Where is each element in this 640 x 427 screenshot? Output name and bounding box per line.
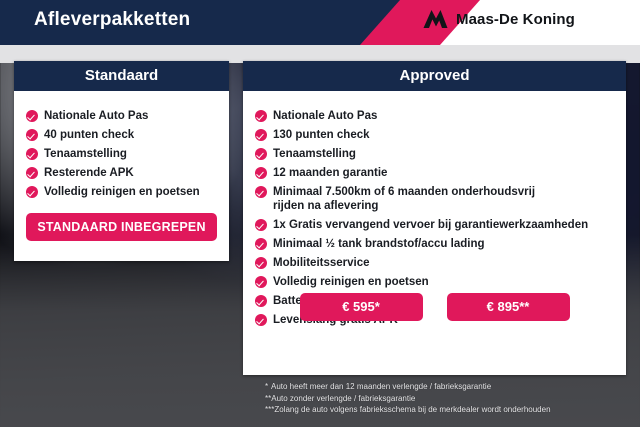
- feature-label: Resterende APK: [44, 166, 134, 180]
- card-standaard: Standaard Nationale Auto Pas 40 punten c…: [14, 61, 229, 261]
- feature-label: 130 punten check: [273, 128, 370, 142]
- list-item: Tenaamstelling: [26, 147, 229, 161]
- footnote-row: * Auto heeft meer dan 12 maanden verleng…: [243, 381, 626, 393]
- footnote-text: Auto zonder verlengde / fabrieksgarantie: [271, 393, 626, 405]
- feature-label-line1: Minimaal 7.500km of 6 maanden onderhouds…: [273, 186, 535, 198]
- check-circle-icon: [26, 148, 38, 160]
- brand-name: Maas-De Koning: [456, 11, 575, 28]
- footnote-row: ** Auto zonder verlengde / fabrieksgaran…: [243, 393, 626, 405]
- feature-label: Volledig reinigen en poetsen: [273, 275, 429, 289]
- list-item: Minimaal ½ tank brandstof/accu lading: [255, 237, 626, 251]
- check-circle-icon: [26, 129, 38, 141]
- check-circle-icon: [255, 186, 267, 198]
- feature-label: Mobiliteitsservice: [273, 256, 370, 270]
- feature-label: Tenaamstelling: [273, 147, 356, 161]
- list-item: Nationale Auto Pas: [255, 109, 626, 123]
- list-item: 1x Gratis vervangend vervoer bij garanti…: [255, 218, 626, 232]
- card-standaard-title: Standaard: [14, 61, 229, 91]
- check-circle-icon: [255, 148, 267, 160]
- approved-price-row: € 595* € 895**: [243, 293, 626, 321]
- list-item: Resterende APK: [26, 166, 229, 180]
- check-circle-icon: [255, 110, 267, 122]
- feature-label: Nationale Auto Pas: [273, 109, 377, 123]
- list-item: Tenaamstelling: [255, 147, 626, 161]
- footnote-text: Auto heeft meer dan 12 maanden verlengde…: [271, 381, 626, 393]
- feature-label: 1x Gratis vervangend vervoer bij garanti…: [273, 218, 588, 232]
- footnote-marker: ***: [243, 404, 274, 416]
- list-item: Mobiliteitsservice: [255, 256, 626, 270]
- card-approved-body: Nationale Auto Pas 130 punten check Tena…: [243, 91, 626, 327]
- card-approved: Approved Nationale Auto Pas 130 punten c…: [243, 61, 626, 375]
- feature-label: 12 maanden garantie: [273, 166, 387, 180]
- footnote-marker: *: [243, 381, 271, 393]
- check-circle-icon: [255, 219, 267, 231]
- check-circle-icon: [26, 186, 38, 198]
- check-circle-icon: [255, 238, 267, 250]
- card-standaard-body: Nationale Auto Pas 40 punten check Tenaa…: [14, 91, 229, 199]
- check-circle-icon: [255, 129, 267, 141]
- list-item: 130 punten check: [255, 128, 626, 142]
- footnote-row: *** Zolang de auto volgens fabrieksschem…: [243, 404, 626, 416]
- list-item: 40 punten check: [26, 128, 229, 142]
- standaard-feature-list: Nationale Auto Pas 40 punten check Tenaa…: [14, 101, 229, 199]
- price-button-895[interactable]: € 895**: [447, 293, 570, 321]
- card-approved-title: Approved: [243, 61, 626, 91]
- brand-logo: Maas-De Koning: [422, 9, 575, 29]
- list-item: Volledig reinigen en poetsen: [26, 185, 229, 199]
- list-item: Minimaal 7.500km of 6 maanden onderhouds…: [255, 185, 626, 213]
- feature-label: Minimaal 7.500km of 6 maanden onderhouds…: [273, 185, 535, 213]
- list-item: Nationale Auto Pas: [26, 109, 229, 123]
- check-circle-icon: [26, 167, 38, 179]
- price-button-595[interactable]: € 595*: [300, 293, 423, 321]
- feature-label-line2: rijden na aflevering: [273, 199, 535, 213]
- footnote-text: Zolang de auto volgens fabrieksschema bi…: [274, 404, 626, 416]
- maas-de-koning-m-mark-icon: [422, 9, 448, 29]
- check-circle-icon: [255, 276, 267, 288]
- footnotes: * Auto heeft meer dan 12 maanden verleng…: [243, 381, 626, 416]
- check-circle-icon: [255, 167, 267, 179]
- feature-label: Nationale Auto Pas: [44, 109, 148, 123]
- feature-label: Tenaamstelling: [44, 147, 127, 161]
- list-item: 12 maanden garantie: [255, 166, 626, 180]
- slide-root: Afleverpakketten Maas-De Koning Standaar…: [0, 0, 640, 427]
- standaard-inbegrepen-button[interactable]: STANDAARD INBEGREPEN: [26, 213, 217, 241]
- page-title: Afleverpakketten: [34, 9, 190, 31]
- feature-label: 40 punten check: [44, 128, 134, 142]
- footnote-marker: **: [243, 393, 271, 405]
- check-circle-icon: [255, 257, 267, 269]
- feature-label: Minimaal ½ tank brandstof/accu lading: [273, 237, 485, 251]
- feature-label: Volledig reinigen en poetsen: [44, 185, 200, 199]
- header-bar: Afleverpakketten Maas-De Koning: [0, 0, 640, 45]
- check-circle-icon: [26, 110, 38, 122]
- list-item: Volledig reinigen en poetsen: [255, 275, 626, 289]
